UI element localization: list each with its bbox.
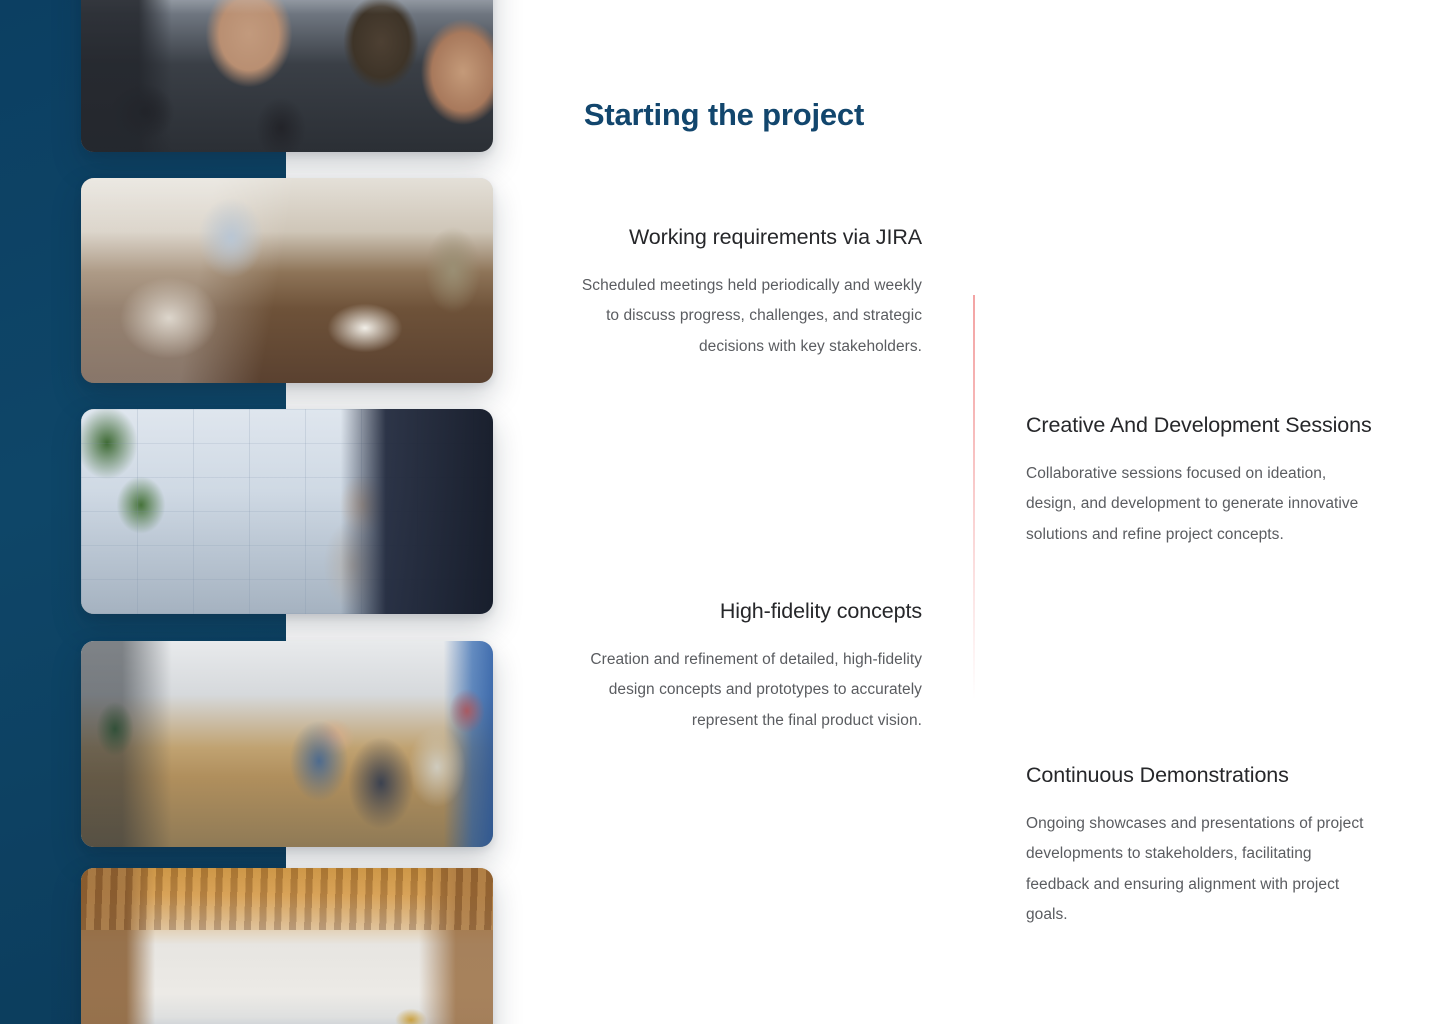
feature-heading: Continuous Demonstrations bbox=[1026, 760, 1372, 791]
feature-block-continuous-demonstrations: Continuous Demonstrations Ongoing showca… bbox=[1026, 760, 1372, 930]
photo-office-team-talking-image bbox=[81, 0, 493, 152]
feature-heading: Creative And Development Sessions bbox=[1026, 410, 1372, 441]
feature-block-high-fidelity-concepts: High-fidelity concepts Creation and refi… bbox=[576, 596, 922, 736]
photo-team-standup bbox=[81, 641, 493, 847]
feature-block-working-requirements: Working requirements via JIRA Scheduled … bbox=[576, 222, 922, 362]
content-area: Starting the project Working requirement… bbox=[500, 0, 1440, 1024]
feature-body: Scheduled meetings held periodically and… bbox=[576, 271, 922, 362]
feature-heading: High-fidelity concepts bbox=[576, 596, 922, 627]
photo-office-interior bbox=[81, 868, 493, 1024]
feature-body: Collaborative sessions focused on ideati… bbox=[1026, 459, 1372, 550]
photo-presentation-board-image bbox=[81, 409, 493, 614]
photo-office-team-talking bbox=[81, 0, 493, 152]
photo-presentation-board bbox=[81, 409, 493, 614]
page-title: Starting the project bbox=[500, 96, 1440, 133]
feature-heading: Working requirements via JIRA bbox=[576, 222, 922, 253]
feature-block-creative-development-sessions: Creative And Development Sessions Collab… bbox=[1026, 410, 1372, 550]
feature-body: Creation and refinement of detailed, hig… bbox=[576, 645, 922, 736]
photo-meeting-notes bbox=[81, 178, 493, 383]
photo-office-interior-image bbox=[81, 868, 493, 1024]
photo-team-standup-image bbox=[81, 641, 493, 847]
photo-meeting-notes-image bbox=[81, 178, 493, 383]
feature-body: Ongoing showcases and presentations of p… bbox=[1026, 809, 1372, 931]
column-divider bbox=[973, 295, 975, 700]
